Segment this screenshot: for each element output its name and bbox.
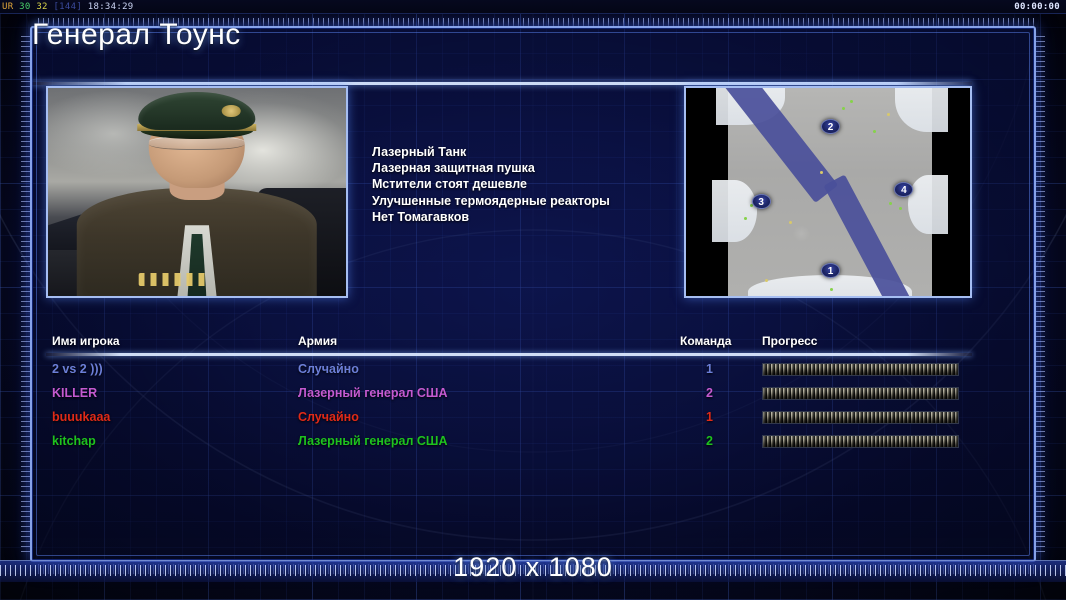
table-row: buuukaaaСлучайно1 — [46, 408, 972, 432]
player-army: Лазерный генерал США — [298, 434, 447, 448]
map-resource-dot — [789, 221, 792, 224]
cap-eagle-badge-icon — [222, 105, 241, 117]
table-row: 2 vs 2 )))Случайно1 — [46, 360, 972, 384]
player-progress-bar — [762, 363, 959, 376]
officer-figure — [93, 88, 302, 296]
map-preview: 1 2 3 4 — [684, 86, 972, 298]
top-status-bar: UR 30 32 [144] 18:34:29 00:00:00 — [0, 0, 1066, 14]
progress-fill — [763, 364, 958, 375]
map-resource-dot — [889, 202, 892, 205]
player-army: Случайно — [298, 410, 359, 424]
title-bar: Генерал Тоунс — [32, 18, 972, 66]
map-resource-dot — [830, 288, 833, 291]
status-token-bracket: [144] — [53, 2, 82, 12]
progress-fill — [763, 412, 958, 423]
map-start-position-4[interactable]: 4 — [894, 182, 913, 197]
map-start-position-2[interactable]: 2 — [821, 119, 840, 134]
player-name: KILLER — [52, 386, 97, 400]
top-status-left: UR 30 32 [144] 18:34:29 — [2, 0, 134, 14]
ability-item: Улучшенные термоядерные реакторы — [372, 193, 662, 209]
map-snow-patch — [908, 175, 949, 233]
loading-screen: UR 30 32 [144] 18:34:29 00:00:00 Генерал… — [0, 0, 1066, 600]
map-resource-dot — [842, 107, 845, 110]
ability-item: Мстители стоят дешевле — [372, 176, 662, 192]
map-start-position-1[interactable]: 1 — [821, 263, 840, 278]
progress-fill — [763, 436, 958, 447]
status-token-count: 32 — [36, 2, 47, 12]
status-token-fps: 30 — [19, 2, 30, 12]
players-table: Имя игрока Армия Команда Прогресс 2 vs 2… — [46, 334, 972, 548]
ruler-right-icon — [1036, 36, 1045, 552]
column-header-player: Имя игрока — [52, 334, 120, 348]
table-header-divider — [46, 353, 972, 356]
player-progress-bar — [762, 435, 959, 448]
general-info-panel: Лазерный Танк Лазерная защитная пушка Мс… — [46, 86, 972, 298]
map-terrain: 1 2 3 4 — [728, 88, 932, 296]
table-body: 2 vs 2 )))Случайно1KILLERЛазерный генера… — [46, 360, 972, 456]
player-progress-bar — [762, 387, 959, 400]
player-name: 2 vs 2 ))) — [52, 362, 103, 376]
map-resource-dot — [899, 207, 902, 210]
column-header-progress: Прогресс — [762, 334, 817, 348]
portrait-image — [48, 88, 346, 296]
column-header-team: Команда — [680, 334, 731, 348]
table-row: kitchapЛазерный генерал США2 — [46, 432, 972, 456]
general-abilities-list: Лазерный Танк Лазерная защитная пушка Мс… — [372, 144, 662, 225]
progress-fill — [763, 388, 958, 399]
ability-item: Лазерный Танк — [372, 144, 662, 160]
map-start-position-3[interactable]: 3 — [752, 194, 771, 209]
page-title: Генерал Тоунс — [32, 18, 972, 52]
ability-item: Нет Томагавков — [372, 209, 662, 225]
title-divider — [32, 82, 972, 85]
game-clock: 00:00:00 — [1014, 0, 1060, 14]
player-name: buuukaaa — [52, 410, 110, 424]
player-team: 1 — [706, 362, 713, 376]
map-resource-dot — [850, 100, 853, 103]
map-snow-patch — [895, 86, 948, 132]
rank-stars-icon — [139, 273, 210, 285]
player-team: 2 — [706, 386, 713, 400]
status-token-ur: UR — [2, 2, 13, 12]
status-token-time: 18:34:29 — [88, 2, 134, 12]
resolution-watermark: 1920 x 1080 — [0, 552, 1066, 583]
table-row: KILLERЛазерный генерал США2 — [46, 384, 972, 408]
map-resource-dot — [820, 171, 823, 174]
player-team: 1 — [706, 410, 713, 424]
ruler-left-icon — [21, 36, 30, 552]
map-snow-patch — [712, 180, 757, 242]
player-name: kitchap — [52, 434, 96, 448]
table-header-row: Имя игрока Армия Команда Прогресс — [46, 334, 972, 354]
ability-item: Лазерная защитная пушка — [372, 160, 662, 176]
map-resource-dot — [873, 130, 876, 133]
column-header-army: Армия — [298, 334, 337, 348]
general-portrait — [46, 86, 348, 298]
map-resource-dot — [887, 113, 890, 116]
player-army: Лазерный генерал США — [298, 386, 447, 400]
player-progress-bar — [762, 411, 959, 424]
player-team: 2 — [706, 434, 713, 448]
player-army: Случайно — [298, 362, 359, 376]
